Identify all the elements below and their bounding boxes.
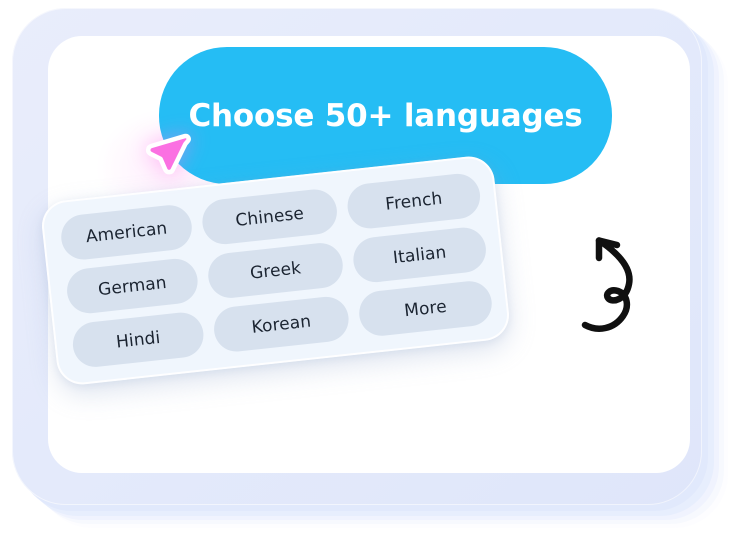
language-chip-grid: American Chinese French German Greek Ita…: [55, 171, 496, 369]
illustration-scene: Choose 50+ languages American Chinese Fr…: [0, 0, 732, 538]
language-chip-french[interactable]: French: [345, 172, 482, 231]
language-chip-hindi[interactable]: Hindi: [71, 310, 206, 369]
banner-pill: Choose 50+ languages: [159, 47, 612, 184]
language-chip-american[interactable]: American: [59, 203, 194, 262]
language-chip-german[interactable]: German: [65, 257, 200, 316]
language-chip-chinese[interactable]: Chinese: [200, 187, 339, 246]
language-chip-greek[interactable]: Greek: [206, 241, 345, 300]
language-chip-korean[interactable]: Korean: [212, 295, 351, 354]
language-chip-more[interactable]: More: [357, 279, 494, 338]
language-chip-italian[interactable]: Italian: [351, 225, 488, 284]
curved-arrow-doodle-icon: [580, 228, 652, 348]
cursor-pointer-icon: [138, 131, 198, 191]
banner-title: Choose 50+ languages: [188, 98, 582, 134]
